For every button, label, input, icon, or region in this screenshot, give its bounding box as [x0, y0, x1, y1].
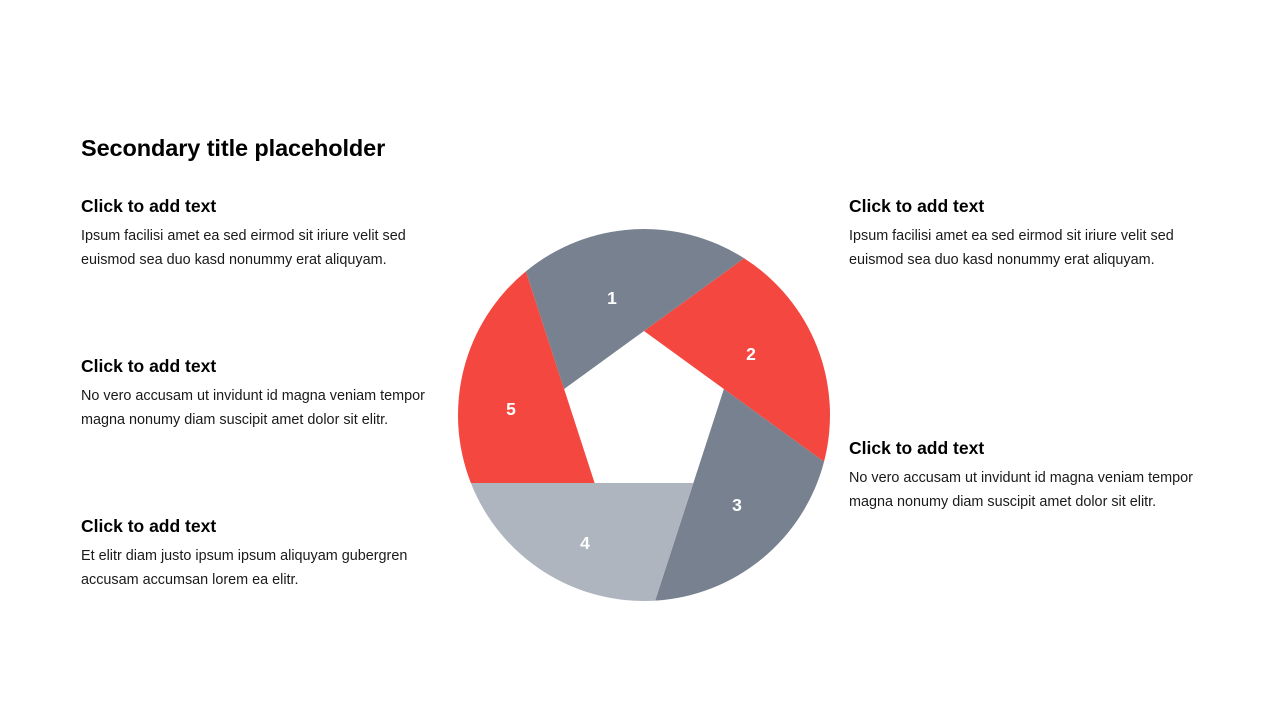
text-block-left-3[interactable]: Click to add text Et elitr diam justo ip…	[81, 516, 426, 592]
pinwheel-slice-label-5: 5	[506, 399, 516, 419]
pinwheel-diagram[interactable]: 12345	[452, 223, 836, 607]
pinwheel-slice-label-1: 1	[607, 288, 617, 308]
text-block-left-2[interactable]: Click to add text No vero accusam ut inv…	[81, 356, 426, 432]
text-block-left-2-body[interactable]: No vero accusam ut invidunt id magna ven…	[81, 385, 426, 432]
text-block-left-1[interactable]: Click to add text Ipsum facilisi amet ea…	[81, 196, 426, 272]
text-block-right-2-body[interactable]: No vero accusam ut invidunt id magna ven…	[849, 467, 1199, 514]
text-block-left-2-heading[interactable]: Click to add text	[81, 356, 426, 376]
text-block-left-1-body[interactable]: Ipsum facilisi amet ea sed eirmod sit ir…	[81, 225, 426, 272]
pinwheel-slice-label-3: 3	[732, 495, 742, 515]
text-block-right-2[interactable]: Click to add text No vero accusam ut inv…	[849, 438, 1199, 514]
text-block-left-3-heading[interactable]: Click to add text	[81, 516, 426, 536]
text-block-right-2-heading[interactable]: Click to add text	[849, 438, 1199, 458]
pinwheel-svg: 12345	[452, 223, 836, 607]
text-block-right-1[interactable]: Click to add text Ipsum facilisi amet ea…	[849, 196, 1199, 272]
text-block-left-1-heading[interactable]: Click to add text	[81, 196, 426, 216]
slide-canvas: Secondary title placeholder Click to add…	[0, 0, 1280, 720]
pinwheel-slice-label-4: 4	[580, 533, 590, 553]
text-block-left-3-body[interactable]: Et elitr diam justo ipsum ipsum aliquyam…	[81, 545, 426, 592]
page-title: Secondary title placeholder	[81, 135, 385, 162]
pinwheel-slice-label-2: 2	[746, 344, 756, 364]
text-block-right-1-heading[interactable]: Click to add text	[849, 196, 1199, 216]
text-block-right-1-body[interactable]: Ipsum facilisi amet ea sed eirmod sit ir…	[849, 225, 1199, 272]
